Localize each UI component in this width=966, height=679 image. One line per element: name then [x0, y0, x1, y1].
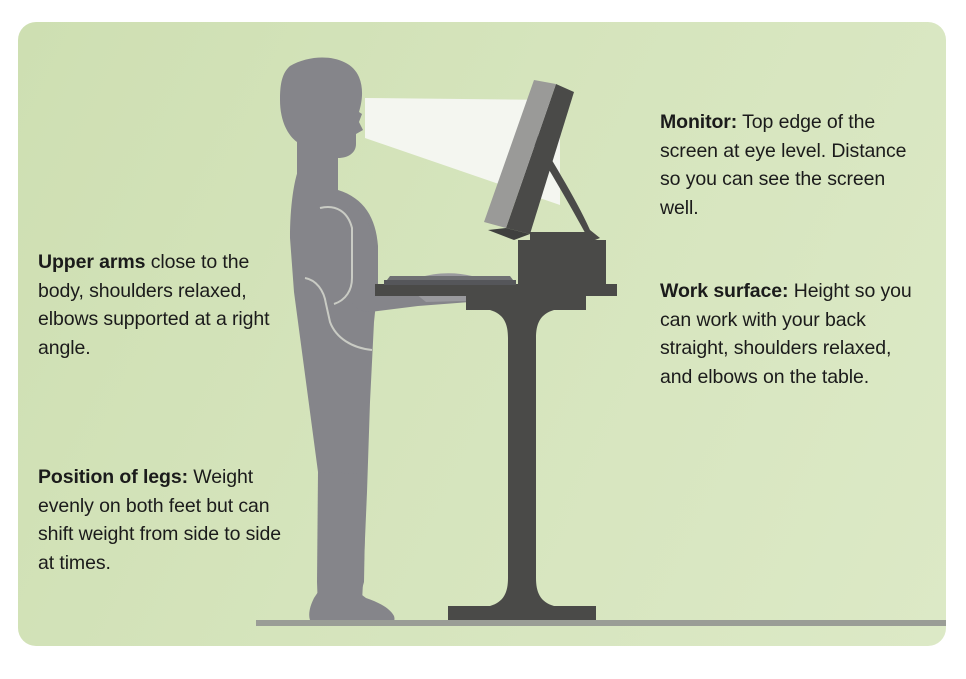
desk-pedestal — [448, 296, 596, 622]
keyboard — [384, 276, 516, 285]
floor-line — [256, 620, 946, 626]
annotation-upper-arms-lead: Upper arms — [38, 251, 145, 273]
annotation-position-of-legs: Position of legs: Weight evenly on both … — [38, 463, 300, 577]
ergonomics-infographic-panel: Upper arms close to the body, shoulders … — [18, 22, 946, 646]
desktop-surface — [375, 284, 617, 296]
annotation-upper-arms: Upper arms close to the body, shoulders … — [38, 248, 290, 362]
annotation-monitor-lead: Monitor: — [660, 111, 737, 133]
annotation-work-surface-lead: Work surface: — [660, 280, 788, 302]
annotation-work-surface: Work surface: Height so you can work wit… — [660, 277, 922, 391]
annotation-monitor: Monitor: Top edge of the screen at eye l… — [660, 108, 922, 222]
annotation-position-of-legs-lead: Position of legs: — [38, 466, 188, 488]
